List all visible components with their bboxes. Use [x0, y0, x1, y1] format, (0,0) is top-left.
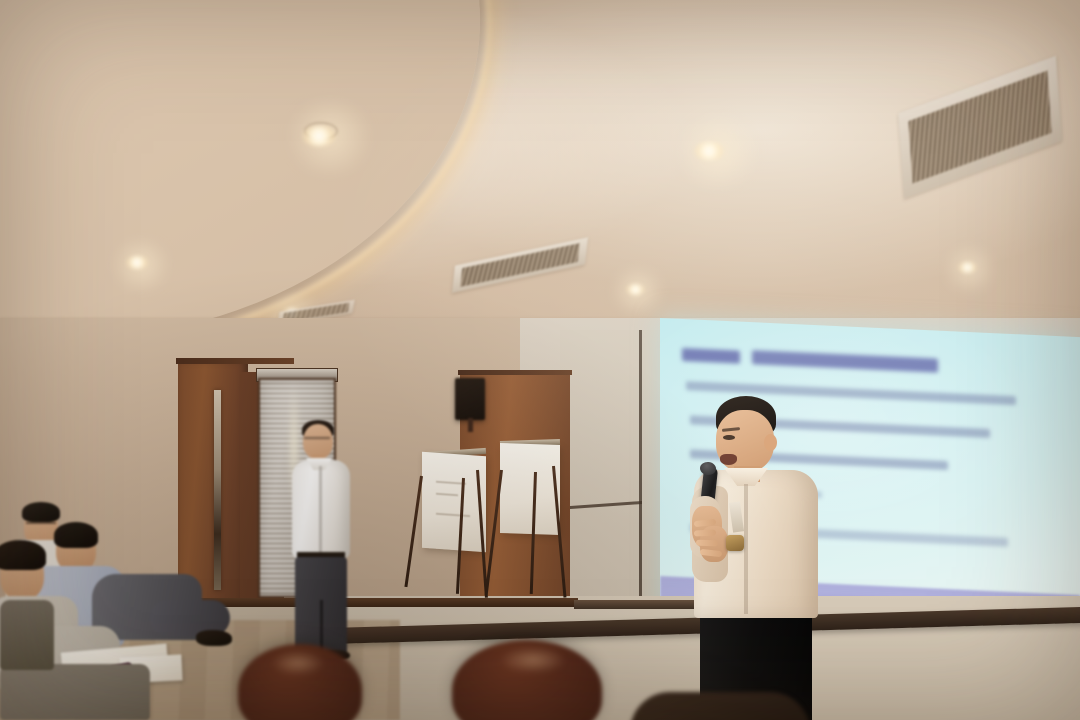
wood-panel-trim [176, 358, 294, 364]
slide-title-badge [682, 347, 740, 363]
wood-panel-trim-right [458, 370, 572, 375]
wood-panel-light-strip [214, 390, 221, 590]
baseboard-left [178, 598, 578, 607]
wood-panel-left [178, 360, 248, 610]
eyeglasses-icon [304, 437, 330, 445]
presenter-ear [764, 434, 777, 451]
wristwatch [726, 535, 744, 551]
wall-speaker [455, 378, 485, 420]
conference-room-photo [0, 0, 1080, 720]
presenter-eye [723, 435, 735, 440]
presenter-finger-2 [694, 529, 716, 536]
standing-man-shirt-placket [319, 466, 322, 552]
conference-chair-2[interactable] [0, 600, 54, 670]
baseboard-right [574, 600, 694, 609]
wall-speaker-mount [468, 418, 473, 432]
presenter-finger-3 [696, 540, 718, 547]
foreground-shoulder-right [630, 692, 810, 720]
presenter-shirt-placket [744, 484, 748, 614]
presenter-mouth [720, 454, 737, 465]
conference-chair[interactable] [0, 664, 150, 720]
wall-seam-vertical [639, 330, 642, 618]
